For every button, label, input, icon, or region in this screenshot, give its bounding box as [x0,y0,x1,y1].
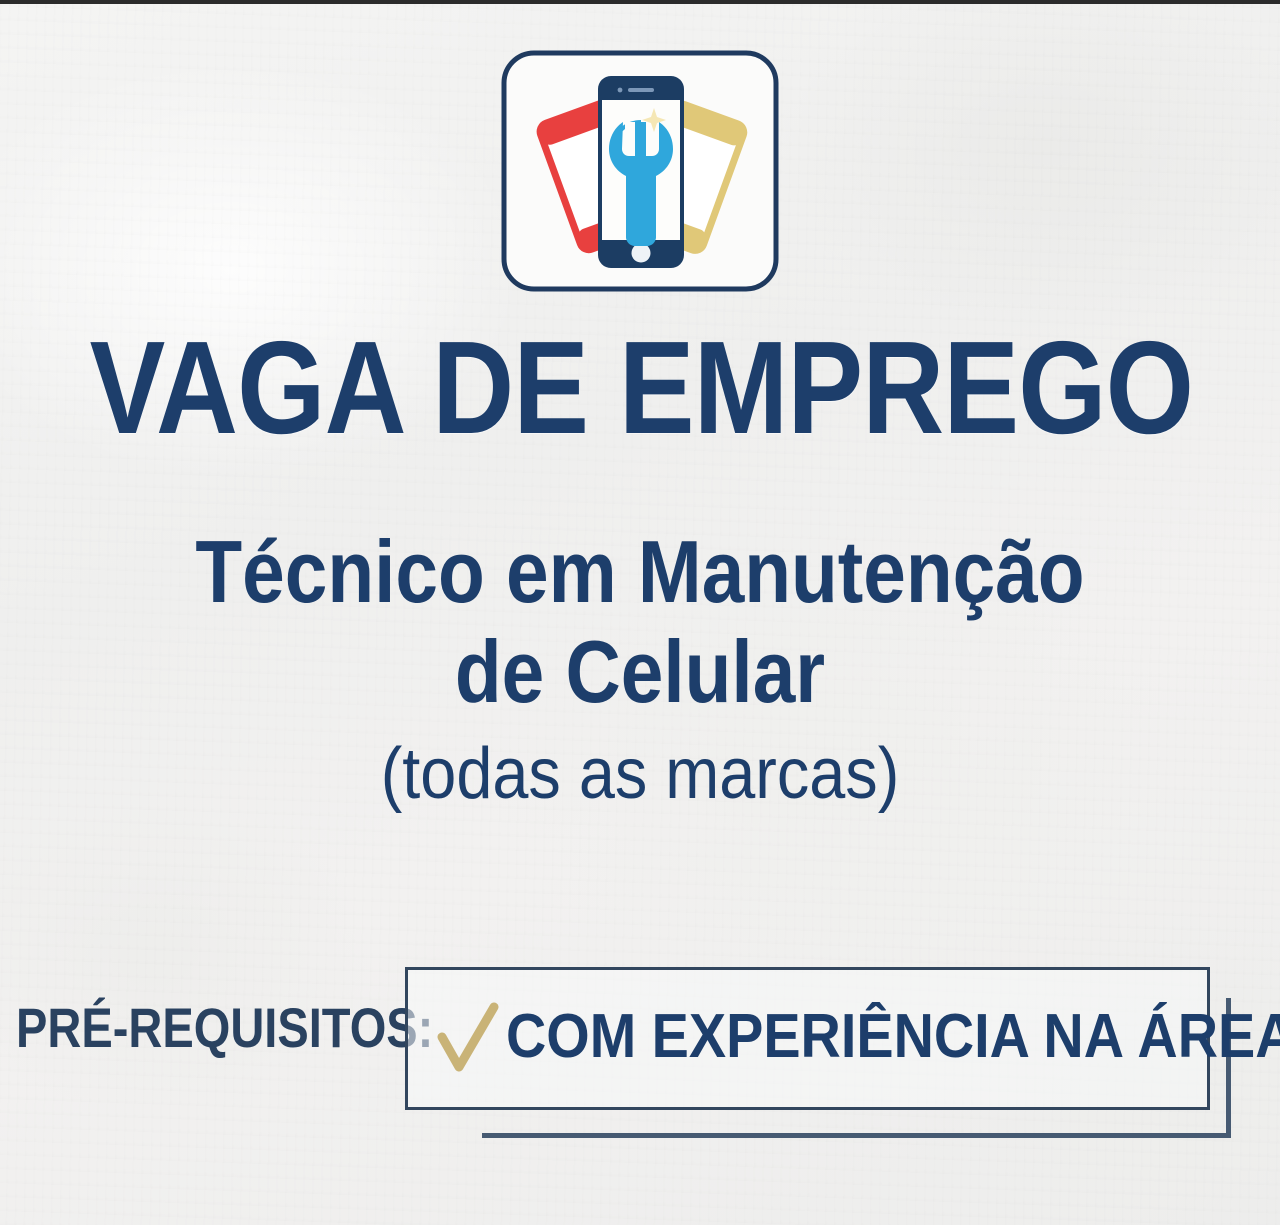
job-title: Técnico em Manutenção de Celular [83,522,1197,723]
checkmark-icon [434,1001,500,1077]
job-advertisement-poster: VAGA DE EMPREGO Técnico em Manutenção de… [0,0,1280,1225]
job-title-line-1: Técnico em Manutenção [83,522,1197,622]
top-edge-bar [0,0,1280,4]
job-title-line-2: de Celular [83,622,1197,722]
page-title: VAGA DE EMPREGO [90,322,1191,454]
job-title-note: (todas as marcas) [64,738,1216,810]
phone-repair-wrench-icon [498,48,782,294]
prerequisites-label: PRÉ-REQUISITOS: [16,1000,433,1056]
requirement-text: COM EXPERIÊNCIA NA ÁREA [506,1006,1280,1072]
requirement-box: COM EXPERIÊNCIA NA ÁREA [405,967,1210,1110]
requirement-box-shadow-horizontal [482,1133,1231,1138]
